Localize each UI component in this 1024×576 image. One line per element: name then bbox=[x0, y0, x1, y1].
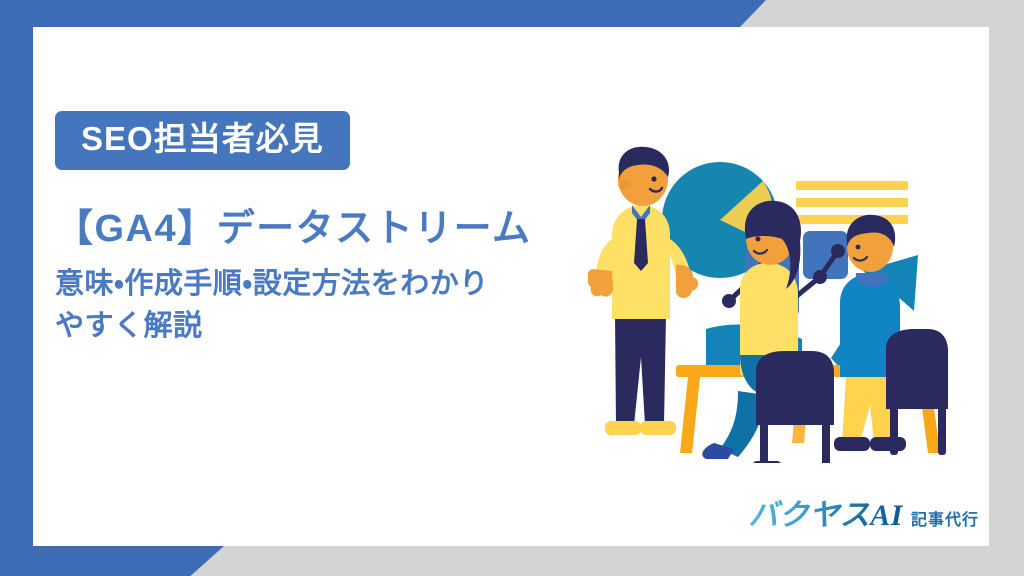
page-subtitle: 意味・作成手順・設定方法をわかり やすく解説 bbox=[55, 263, 630, 347]
business-presentation-illustration bbox=[588, 143, 958, 463]
chair-back bbox=[886, 329, 948, 455]
thumbnail-canvas: SEO担当者必見 【GA4】データストリーム 意味・作成手順・設定方法をわかり … bbox=[0, 0, 1024, 576]
brand-logo: バクヤスAI 記事代行 bbox=[748, 490, 979, 534]
bar-lines-icon bbox=[796, 181, 908, 224]
brand-logo-subtitle: 記事代行 bbox=[911, 506, 979, 530]
category-badge: SEO担当者必見 bbox=[55, 111, 350, 170]
page-subtitle-line-1: 意味・作成手順・設定方法をわかり bbox=[55, 263, 630, 305]
bottom-accent-band bbox=[0, 546, 224, 576]
chair-front bbox=[752, 351, 834, 463]
left-accent-band bbox=[0, 0, 33, 576]
page-title: 【GA4】データストリーム bbox=[55, 206, 630, 254]
top-accent-band bbox=[0, 0, 766, 27]
page-subtitle-line-2: やすく解説 bbox=[55, 305, 630, 347]
headline-block: 【GA4】データストリーム 意味・作成手順・設定方法をわかり やすく解説 bbox=[55, 206, 630, 347]
brand-logo-mark: バクヤスAI bbox=[748, 490, 903, 534]
